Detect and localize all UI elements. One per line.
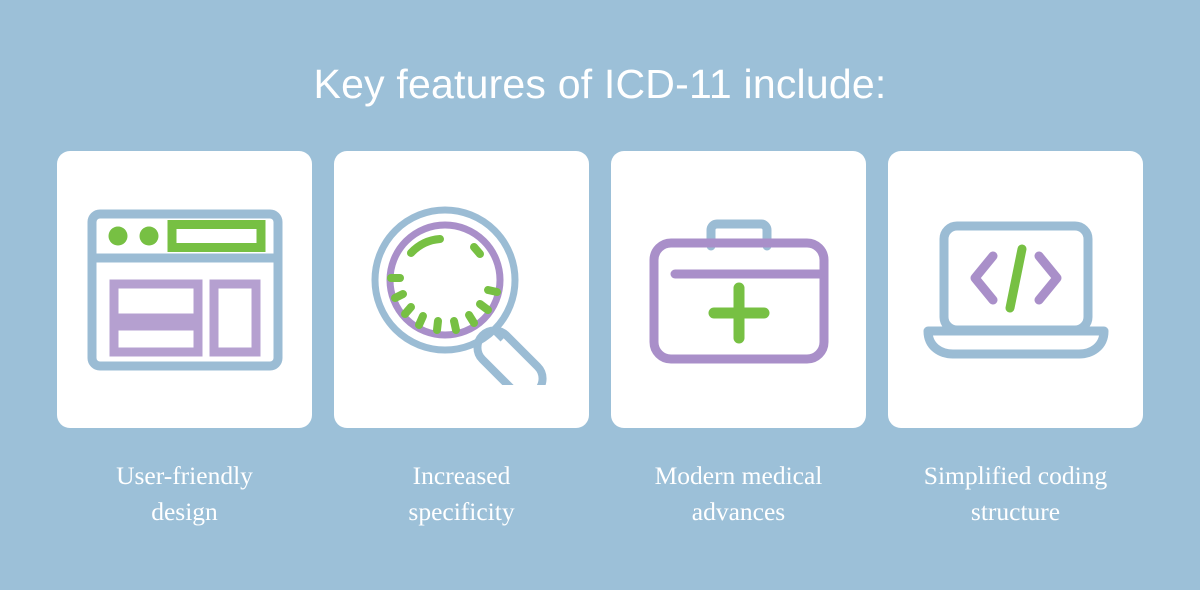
- feature-card[interactable]: [611, 151, 866, 428]
- medical-briefcase-icon: [649, 216, 829, 364]
- feature-item-increased-specificity: Increased specificity: [334, 151, 589, 530]
- feature-card[interactable]: [334, 151, 589, 428]
- caption-line-1: Increased: [327, 458, 597, 494]
- page-title: Key features of ICD-11 include:: [0, 62, 1200, 107]
- caption-line-2: design: [50, 494, 320, 530]
- magnifying-glass-icon: [362, 195, 562, 385]
- infographic-root: Key features of ICD-11 include: User-fri…: [0, 0, 1200, 590]
- feature-item-simplified-coding-structure: Simplified coding structure: [888, 151, 1143, 530]
- feature-item-modern-medical-advances: Modern medical advances: [611, 151, 866, 530]
- caption-line-1: User-friendly: [50, 458, 320, 494]
- feature-caption: Modern medical advances: [604, 458, 874, 530]
- browser-window-icon: [87, 209, 283, 371]
- forward-slash: [1010, 249, 1022, 308]
- caption-line-2: specificity: [327, 494, 597, 530]
- feature-item-user-friendly-design: User-friendly design: [57, 151, 312, 530]
- magnifier-handle: [470, 323, 549, 385]
- feature-caption: Increased specificity: [327, 458, 597, 530]
- laptop-code-icon: [921, 220, 1111, 360]
- feature-card[interactable]: [57, 151, 312, 428]
- magnifier-dashes: [391, 239, 497, 330]
- caption-line-1: Simplified coding: [881, 458, 1151, 494]
- caption-line-2: advances: [604, 494, 874, 530]
- caption-line-1: Modern medical: [604, 458, 874, 494]
- feature-card-row: User-friendly design: [57, 151, 1143, 530]
- medical-cross: [714, 288, 764, 338]
- feature-caption: Simplified coding structure: [881, 458, 1151, 530]
- caption-line-2: structure: [881, 494, 1151, 530]
- feature-card[interactable]: [888, 151, 1143, 428]
- feature-caption: User-friendly design: [50, 458, 320, 530]
